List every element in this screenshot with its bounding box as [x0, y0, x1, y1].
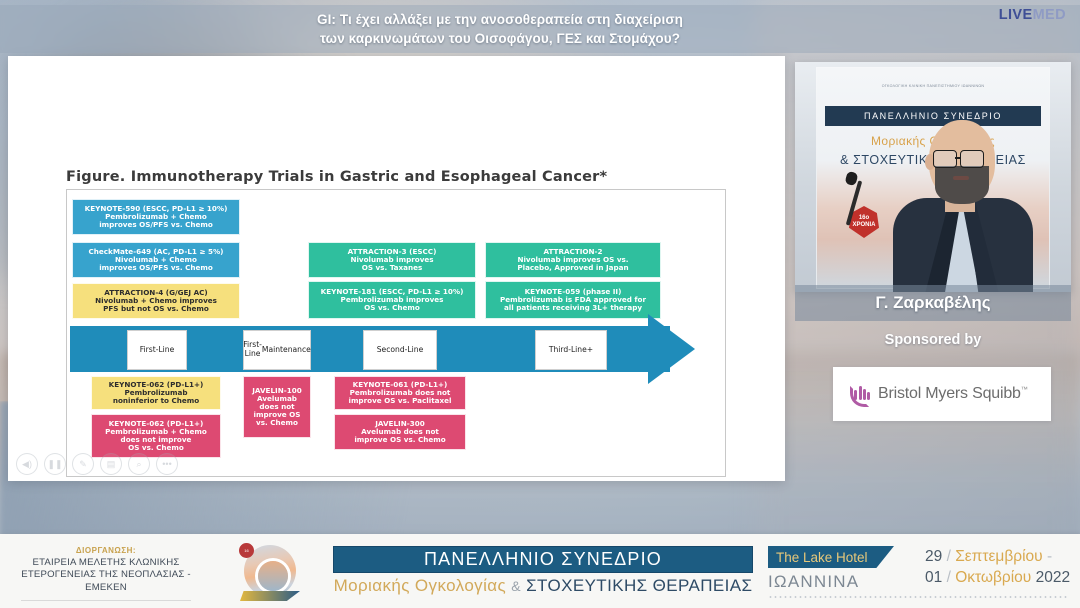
trial-box-attraction-4: ATTRACTION-4 (G/GEJ AC)Nivolumab + Chemo…: [72, 283, 240, 319]
timeline-label-third-line-plus: Third-Line+: [535, 330, 607, 370]
sponsored-by-label: Sponsored by: [795, 332, 1071, 348]
trial-box-keynote-062-mono: KEYNOTE-062 (PD-L1+)Pembrolizumabnoninfe…: [91, 376, 221, 410]
zoom-icon[interactable]: ⌕: [128, 453, 150, 475]
glasses-icon: [933, 150, 991, 166]
organizer-line-1: ΕΤΑΙΡΕΙΑ ΜΕΛΕΤΗΣ ΚΛΩΝΙΚΗΣ: [0, 557, 212, 570]
sponsor-trademark: ™: [1021, 387, 1028, 394]
speaker-beard: [935, 166, 989, 204]
livemed-logo-med: MED: [1033, 7, 1066, 23]
session-title-bar: GI: Τι έχει αλλάξει με την ανοσοθεραπεία…: [0, 5, 1080, 53]
congress-title-text: ΠΑΝΕΛΛΗΝΙΟ ΣΥΝΕΔΡΙΟ: [424, 549, 662, 570]
speaker-mouth: [953, 176, 969, 180]
livemed-logo-live: LIVE: [999, 7, 1033, 23]
venue-band: The Lake Hotel: [768, 546, 894, 568]
venue-city: ΙΩΑΝΝΙΝΑ: [768, 572, 908, 592]
timeline-label-second-line: Second-Line: [363, 330, 437, 370]
organizer-line-2: ΕΤΕΡΟΓΕΝΕΙΑΣ ΤΗΣ ΝΕΟΠΛΑΣΙΑΣ - ΕΜΕΚΕΝ: [0, 569, 212, 594]
date-year: 2022: [1036, 569, 1070, 586]
congress-subtitle-amp: &: [511, 578, 521, 594]
figure-title: Figure. Immunotherapy Trials in Gastric …: [66, 169, 607, 185]
volume-icon[interactable]: ◀): [16, 453, 38, 475]
congress-title-band: ΠΑΝΕΛΛΗΝΙΟ ΣΥΝΕΔΡΙΟ: [333, 546, 753, 573]
congress-logo-inner: [258, 561, 288, 591]
pen-icon[interactable]: ✎: [72, 453, 94, 475]
timeline-label-first-line-maintenance: First-LineMaintenance: [243, 330, 311, 370]
trial-box-javelin-100: JAVELIN-100Avelumabdoes notimprove OSvs.…: [243, 376, 311, 438]
date-month-1: Σεπτεμβρίου: [955, 548, 1042, 565]
footer-dotted-rule: [768, 596, 1068, 598]
date-month-2: Οκτωβρίου: [955, 569, 1031, 586]
date-day-1: 29: [925, 548, 942, 565]
timeline-arrow-head: [648, 314, 695, 384]
organizer-label: ΔΙΟΡΓΑΝΩΣΗ:: [0, 546, 212, 557]
trial-box-keynote-061: KEYNOTE-061 (PD-L1+)Pembrolizumab does n…: [334, 376, 466, 410]
livemed-logo[interactable]: LIVEMED: [999, 7, 1066, 23]
congress-logo-boat-icon: [240, 591, 300, 601]
congress-subtitle: Μοριακής Ογκολογίας & ΣΤΟΧΕΥΤΙΚΗΣ ΘΕΡΑΠΕ…: [333, 576, 753, 596]
pause-icon[interactable]: ❚❚: [44, 453, 66, 475]
congress-subtitle-blue: ΣΤΟΧΕΥΤΙΚΗΣ ΘΕΡΑΠΕΙΑΣ: [526, 576, 752, 595]
congress-logo: 16: [228, 543, 312, 601]
organizer-block: ΔΙΟΡΓΑΝΩΣΗ: ΕΤΑΙΡΕΙΑ ΜΕΛΕΤΗΣ ΚΛΩΝΙΚΗΣ ΕΤ…: [0, 546, 212, 601]
trial-box-checkmate-649: CheckMate-649 (AC, PD-L1 ≥ 5%)Nivolumab …: [72, 242, 240, 278]
footer-bar: ΔΙΟΡΓΑΝΩΣΗ: ΕΤΑΙΡΕΙΑ ΜΕΛΕΤΗΣ ΚΛΩΝΙΚΗΣ ΕΤ…: [0, 534, 1080, 608]
sponsor-logo[interactable]: Bristol Myers Squibb™: [833, 367, 1051, 421]
bristol-myers-squibb-mark-icon: [849, 381, 871, 407]
date-range-dash: -: [1047, 548, 1052, 565]
date-slash-1: /: [947, 548, 951, 565]
trial-box-attraction-2: ATTRACTION-2Nivolumab improves OS vs.Pla…: [485, 242, 661, 278]
slide-panel[interactable]: Figure. Immunotherapy Trials in Gastric …: [8, 56, 785, 481]
trial-box-keynote-181: KEYNOTE-181 (ESCC, PD-L1 ≥ 10%)Pembroliz…: [308, 281, 476, 319]
dates-block: 29 / Σεπτεμβρίου - 01 / Οκτωβρίου 2022: [925, 547, 1075, 589]
sponsor-name: Bristol Myers Squibb™: [878, 385, 1028, 403]
session-title: GI: Τι έχει αλλάξει με την ανοσοθεραπεία…: [277, 10, 803, 48]
slides-icon[interactable]: ▤: [100, 453, 122, 475]
date-slash-2: /: [947, 569, 951, 586]
speaker-figure: [887, 110, 1035, 292]
anniversary-badge-bottom: ΧΡΟΝΙΑ: [852, 222, 875, 229]
speaker-name: Γ. Ζαρκαβέλης: [875, 293, 990, 313]
speaker-video[interactable]: ΟΓΚΟΛΟΓΙΚΗ ΚΛΙΝΙΚΗ ΠΑΝΕΠΙΣΤΗΜΙΟΥ ΙΩΑΝΝΙΝ…: [795, 62, 1071, 292]
congress-subtitle-gold: Μοριακής Ογκολογίας: [334, 576, 507, 595]
date-day-2: 01: [925, 569, 942, 586]
session-title-line-2: των καρκινωμάτων του Οισοφάγου, ΓΕΣ και …: [317, 29, 683, 48]
venue-name: The Lake Hotel: [776, 550, 868, 565]
session-title-line-1: GI: Τι έχει αλλάξει με την ανοσοθεραπεία…: [317, 10, 683, 29]
slide-content: Figure. Immunotherapy Trials in Gastric …: [8, 56, 785, 481]
trial-box-javelin-300: JAVELIN-300Avelumab does notimprove OS v…: [334, 414, 466, 450]
trial-box-attraction-3: ATTRACTION-3 (ESCC)Nivolumab improvesOS …: [308, 242, 476, 278]
trial-box-keynote-062-combo: KEYNOTE-062 (PD-L1+)Pembrolizumab + Chem…: [91, 414, 221, 458]
speaker-name-bar: Γ. Ζαρκαβέλης: [795, 285, 1071, 321]
timeline-label-first-line: First-Line: [127, 330, 187, 370]
poster-subtitle: ΟΓΚΟΛΟΓΙΚΗ ΚΛΙΝΙΚΗ ΠΑΝΕΠΙΣΤΗΜΙΟΥ ΙΩΑΝΝΙΝ…: [817, 84, 1049, 88]
trial-box-keynote-590: KEYNOTE-590 (ESCC, PD-L1 ≥ 10%)Pembroliz…: [72, 199, 240, 235]
slide-player-controls[interactable]: ◀) ❚❚ ✎ ▤ ⌕ •••: [16, 453, 178, 475]
date-row-start: 29 / Σεπτεμβρίου -: [925, 547, 1075, 568]
congress-logo-seal-icon: 16: [239, 543, 254, 558]
congress-title-block: ΠΑΝΕΛΛΗΝΙΟ ΣΥΝΕΔΡΙΟ Μοριακής Ογκολογίας …: [333, 546, 753, 596]
date-row-end: 01 / Οκτωβρίου 2022: [925, 568, 1075, 589]
more-icon[interactable]: •••: [156, 453, 178, 475]
venue-block: The Lake Hotel ΙΩΑΝΝΙΝΑ: [768, 546, 908, 592]
anniversary-badge-top: 16ο: [859, 215, 869, 222]
trial-box-keynote-059: KEYNOTE-059 (phase II)Pembrolizumab is F…: [485, 281, 661, 319]
organizer-divider: [21, 600, 191, 601]
